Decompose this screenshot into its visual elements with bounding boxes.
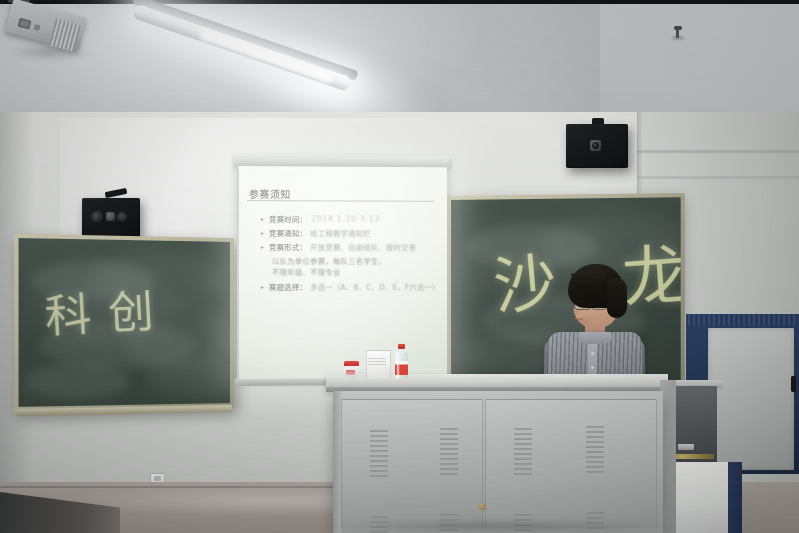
rack-handle [791, 376, 796, 392]
slide-row: ▸ 竞赛通知： 哈工程教学通知栏 [261, 228, 443, 239]
speaker-driver-left-2 [116, 211, 129, 224]
rack-white-panel [672, 462, 728, 533]
rack-top-vent [688, 314, 796, 326]
left-blackboard-surface: 科创 [19, 238, 230, 407]
slide-row-label: 赛题选择： [269, 282, 307, 293]
wall-trim-upper [637, 150, 799, 153]
left-blackboard-chalk-text: 科创 [43, 274, 172, 346]
projection-screen: 参赛须知 ▸ 竞赛时间： 2018.1.20-3.13 ▸ 竞赛通知： 哈工程教… [237, 166, 447, 380]
left-blackboard: 科创 [14, 234, 234, 412]
rack-front-panel [708, 328, 794, 470]
sensor-cap [674, 26, 682, 30]
water-bottle [395, 344, 408, 379]
wall-trim-lower [637, 176, 799, 179]
ceiling-sprinkler-sensor [672, 26, 684, 39]
sensor-stem [676, 29, 679, 38]
slide-row-value: 2018.1.20-3.13 [311, 214, 380, 223]
speaker-driver-right [592, 142, 599, 149]
speaker-logo-left [106, 212, 115, 221]
slide-body: ▸ 竞赛时间： 2018.1.20-3.13 ▸ 竞赛通知： 哈工程教学通知栏 … [261, 214, 443, 296]
podium-vent [370, 430, 388, 478]
slide-row-label: 竞赛时间： [269, 214, 307, 225]
bottle-cap [398, 344, 405, 349]
screen-left-edge [237, 166, 239, 380]
slide-row-value: 开放竞赛、自由组队、按时交卷 [310, 242, 416, 253]
presenter-shirt-button [591, 366, 594, 369]
slide-row-label: 竞赛通知： [269, 228, 307, 239]
bottle-highlight [397, 354, 399, 378]
slide-row-label: 竞赛形式： [269, 242, 307, 253]
paper-cup-rim [344, 361, 359, 366]
slide-row-value: 多选一（A、B、C、D、E、F六选一） [310, 282, 439, 293]
outlet-socket [154, 476, 161, 481]
presenter-hair-side [607, 278, 627, 318]
presenter-face-shading [574, 314, 594, 328]
slide-continuation-line: 以队为单位参赛，每队三名学生， [272, 256, 443, 267]
projection-screen-surface: 参赛须知 ▸ 竞赛时间： 2018.1.20-3.13 ▸ 竞赛通知： 哈工程教… [237, 166, 447, 380]
podium-door-right[interactable] [485, 399, 657, 529]
podium-left-edge [333, 391, 341, 533]
rack-blue-side [728, 462, 742, 533]
wall-speaker-right [566, 124, 628, 168]
slide-bullet-icon: ▸ [261, 282, 269, 293]
classroom-photo: 科创 沙 龙 参赛须知 ▸ 竞赛时间： 2018.1.20 [0, 0, 799, 533]
slide-row: ▸ 竞赛形式： 开放竞赛、自由组队、按时交卷 [261, 242, 443, 253]
projector-vent [49, 18, 81, 52]
podium-floor-shadow [320, 520, 680, 533]
projector-control-dot [33, 24, 40, 31]
tissue-box-print [368, 358, 386, 367]
drawer-label [678, 444, 694, 450]
photo-top-border [0, 0, 799, 4]
projector-lens [18, 18, 32, 30]
podium-vent [440, 428, 458, 476]
podium-door-left[interactable] [341, 399, 483, 529]
podium-lock[interactable] [479, 503, 486, 510]
presenter-collar [578, 332, 612, 344]
speaker-driver-left [90, 210, 105, 225]
slide-bullet-icon: ▸ [261, 214, 269, 225]
slide-row-value: 哈工程教学通知栏 [310, 228, 371, 239]
slide-row: ▸ 赛题选择： 多选一（A、B、C、D、E、F六选一） [261, 282, 443, 293]
presenter-mouth [574, 318, 583, 320]
metal-podium-cabinet [333, 391, 663, 533]
slide-row: ▸ 竞赛时间： 2018.1.20-3.13 [261, 214, 443, 225]
podium-vent [514, 428, 532, 476]
presenter-shirt-button [591, 352, 594, 355]
paper-cup-logo [346, 370, 355, 375]
slide-title: 参赛须知 [249, 186, 291, 201]
wall-speaker-left [82, 198, 140, 238]
podium-vent [586, 426, 604, 474]
slide-bullet-icon: ▸ [261, 242, 269, 253]
slide-bullet-icon: ▸ [261, 228, 269, 239]
slide-continuation-line: 不限年级、不限专业 [272, 267, 443, 278]
